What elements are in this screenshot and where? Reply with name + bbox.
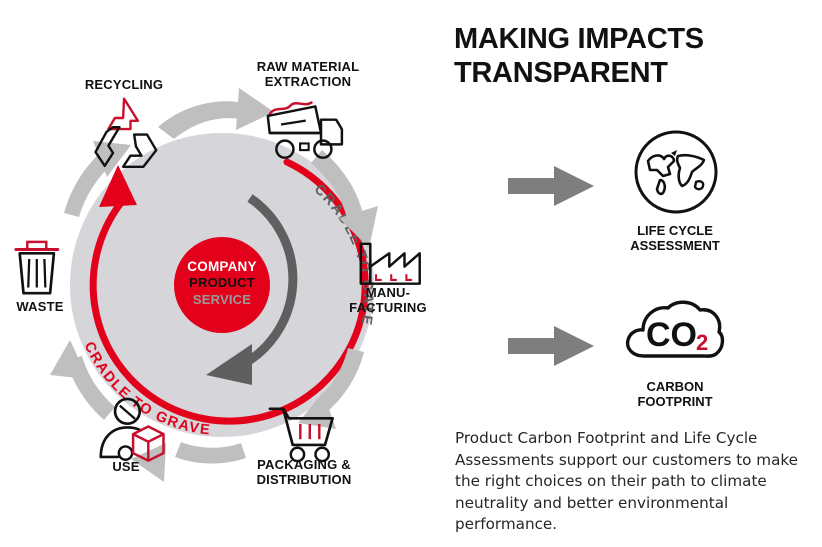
right-column: MAKING IMPACTS TRANSPARENT LIFE CYCLE AS… [452,0,822,547]
arrow-right-icon [508,324,594,368]
stage-label-packaging-distribution: PACKAGING & DISTRIBUTION [236,458,372,487]
stage-label-use: USE [94,460,158,475]
center-line-service: SERVICE [174,292,270,309]
output-carbon-footprint: CO 2 CARBON FOOTPRINT [452,288,822,408]
output-label-carbon-footprint: CARBON FOOTPRINT [580,380,770,410]
center-line-product: PRODUCT [174,275,270,292]
center-circle-text: COMPANY PRODUCT SERVICE [174,258,270,309]
co2-subscript: 2 [696,330,708,355]
stage-label-recycling: RECYCLING [72,78,176,93]
lifecycle-diagram: CRADLE TO GATE CRADLE TO GRAVE [0,0,445,547]
globe-icon [630,128,722,220]
output-label-life-cycle-assessment: LIFE CYCLE ASSESSMENT [580,224,770,254]
center-line-company: COMPANY [174,258,270,275]
description-paragraph: Product Carbon Footprint and Life Cycle … [455,428,818,536]
stage-label-manufacturing: MANU- FACTURING [336,286,440,315]
arrow-right-icon [508,164,594,208]
factory-icon [361,244,420,284]
stage-label-waste: WASTE [2,300,78,315]
infographic-root: CRADLE TO GATE CRADLE TO GRAVE [0,0,822,547]
co2-text: CO [646,316,697,354]
flow-arrow-recycling-to-raw [158,88,274,139]
trash-bin-icon [16,242,58,293]
page-title: MAKING IMPACTS TRANSPARENT [454,22,820,90]
output-life-cycle-assessment: LIFE CYCLE ASSESSMENT [452,128,822,248]
co2-cloud-icon: CO 2 [622,294,726,378]
stage-label-raw-material-extraction: RAW MATERIAL EXTRACTION [228,60,388,89]
